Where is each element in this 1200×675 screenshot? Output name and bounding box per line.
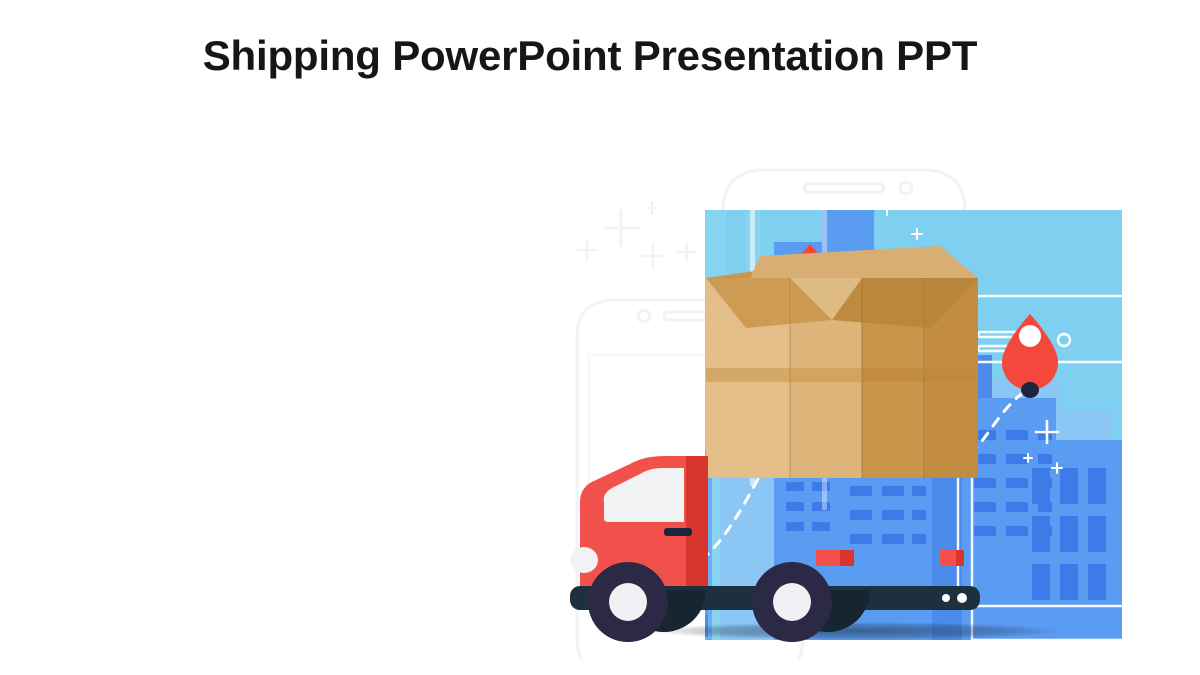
shipping-illustration bbox=[560, 150, 1160, 660]
truck-wheel-rear[interactable] bbox=[752, 562, 832, 642]
truck-wheel-front[interactable] bbox=[588, 562, 668, 642]
sparkles-outside bbox=[578, 202, 696, 267]
page-title: Shipping PowerPoint Presentation PPT bbox=[0, 26, 1180, 86]
truck-door-handle bbox=[664, 528, 692, 536]
cargo-box bbox=[706, 246, 978, 478]
presentation-slide: Shipping PowerPoint Presentation PPT bbox=[0, 0, 1200, 675]
truck-ground-shadow bbox=[650, 622, 1066, 640]
shipping-illustration-svg bbox=[560, 150, 1160, 660]
building-windows-right-tower bbox=[1032, 468, 1106, 600]
map-pin-right-dot bbox=[1021, 382, 1039, 398]
truck-cab-back-panel bbox=[686, 456, 708, 596]
truck-headlight bbox=[570, 547, 598, 573]
